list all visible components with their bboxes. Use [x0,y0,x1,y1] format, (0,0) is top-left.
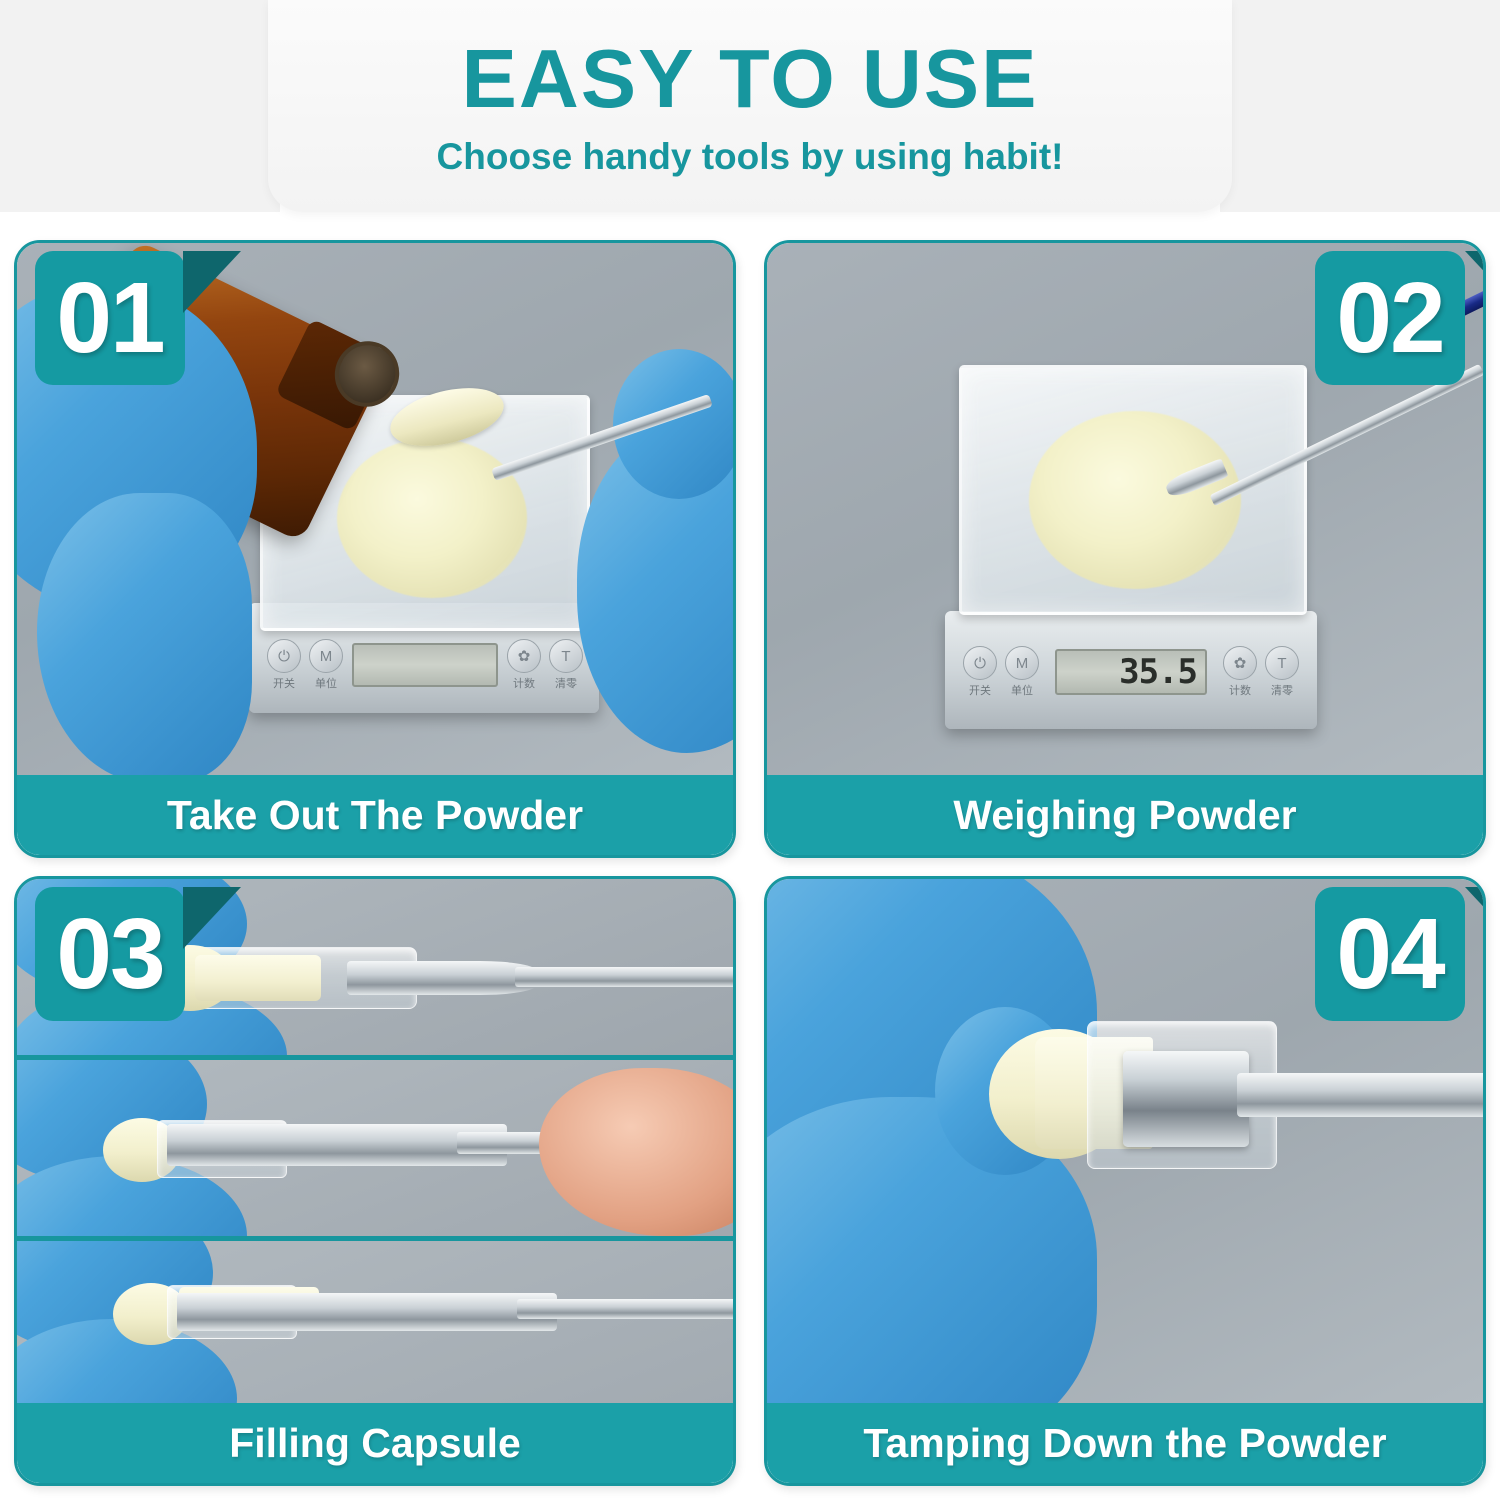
scale-tare-label: 清零 [1271,682,1293,698]
step-caption-04: Tamping Down the Powder [863,1420,1386,1467]
strip-divider-2 [17,1236,733,1241]
tamper-ferrule [1123,1051,1249,1147]
step-03-strip-2 [17,1060,733,1236]
step-number-03: 03 [56,904,163,1004]
spatula-shaft [517,1299,733,1319]
scale-tare-button[interactable]: T 清零 [549,639,583,691]
step-panel-02[interactable]: ⏻ 开关 M 单位 35.5 ✿ 计数 T 清零 [764,240,1486,858]
spatula-shaft [515,967,733,987]
header-right-fill [1220,0,1500,212]
scale-unit-button[interactable]: M 单位 [1005,646,1039,698]
capsule-powder [195,955,321,1001]
scale-count-button[interactable]: ✿ 计数 [1223,646,1257,698]
scale-lcd-display: 35.5 [1055,649,1207,695]
scale-control-panel: ⏻ 开关 M 单位 35.5 ✿ 计数 T 清零 [953,641,1309,703]
scale-right-buttons: ✿ 计数 T 清零 [507,639,583,691]
scale-power-label: 开关 [273,675,295,691]
unit-icon: M [309,639,343,673]
step-caption-bar-04: Tamping Down the Powder [767,1403,1483,1483]
spatula-blade [167,1124,507,1166]
tare-icon: T [549,639,583,673]
scale-tare-label: 清零 [555,675,577,691]
strip-divider-1 [17,1055,733,1060]
badge-fold-icon [1465,887,1486,949]
spatula-blade [347,961,537,995]
scale-unit-button[interactable]: M 单位 [309,639,343,691]
step-caption-bar-02: Weighing Powder [767,775,1483,855]
step-number-02: 02 [1336,268,1443,368]
scale-count-button[interactable]: ✿ 计数 [507,639,541,691]
header-left-fill [0,0,280,212]
count-icon: ✿ [1223,646,1257,680]
powder-mound [337,438,527,598]
tare-icon: T [1265,646,1299,680]
scale-power-button[interactable]: ⏻ 开关 [267,639,301,691]
step-number-01: 01 [56,268,163,368]
scale-tare-button[interactable]: T 清零 [1265,646,1299,698]
scale-left-buttons: ⏻ 开关 M 单位 [963,646,1039,698]
header-banner: EASY TO USE Choose handy tools by using … [268,0,1232,212]
step-badge-04: 04 [1315,887,1465,1021]
badge-fold-icon [1465,251,1486,313]
scale-control-panel: ⏻ 开关 M 单位 ✿ 计数 T 清零 [257,635,593,695]
step-panel-04[interactable]: 04 Tamping Down the Powder [764,876,1486,1486]
step-badge-03: 03 [35,887,185,1021]
gloved-thumb-left [37,493,252,781]
scale-left-buttons: ⏻ 开关 M 单位 [267,639,343,691]
step-badge-01: 01 [35,251,185,385]
step-caption-bar-01: Take Out The Powder [17,775,733,855]
step-panel-03[interactable]: 03 Filling Capsule [14,876,736,1486]
spatula-blade [177,1293,557,1331]
badge-fold-icon [183,251,241,313]
scale-lcd-value: 35.5 [1119,652,1197,692]
scale-unit-label: 单位 [315,675,337,691]
scale-lcd-display [352,643,498,687]
unit-icon: M [1005,646,1039,680]
step-caption-02: Weighing Powder [953,792,1296,839]
count-icon: ✿ [507,639,541,673]
badge-fold-icon [183,887,241,949]
power-icon: ⏻ [963,646,997,680]
power-icon: ⏻ [267,639,301,673]
step-panel-01[interactable]: ⏻ 开关 M 单位 ✿ 计数 T 清零 [14,240,736,858]
step-03-strip-3 [17,1241,733,1409]
step-badge-02: 02 [1315,251,1465,385]
scale-count-label: 计数 [1229,682,1251,698]
powder-mound [1029,411,1241,589]
tamper-rod [1237,1073,1483,1117]
scale-power-label: 开关 [969,682,991,698]
step-caption-bar-03: Filling Capsule [17,1403,733,1483]
scale-power-button[interactable]: ⏻ 开关 [963,646,997,698]
step-caption-03: Filling Capsule [229,1420,521,1467]
page-title: EASY TO USE [461,37,1038,120]
step-caption-01: Take Out The Powder [167,792,583,839]
page-subtitle: Choose handy tools by using habit! [437,138,1064,175]
scale-unit-label: 单位 [1011,682,1033,698]
scale-right-buttons: ✿ 计数 T 清零 [1223,646,1299,698]
bare-thumb [539,1068,733,1236]
step-number-04: 04 [1336,904,1443,1004]
scale-count-label: 计数 [513,675,535,691]
